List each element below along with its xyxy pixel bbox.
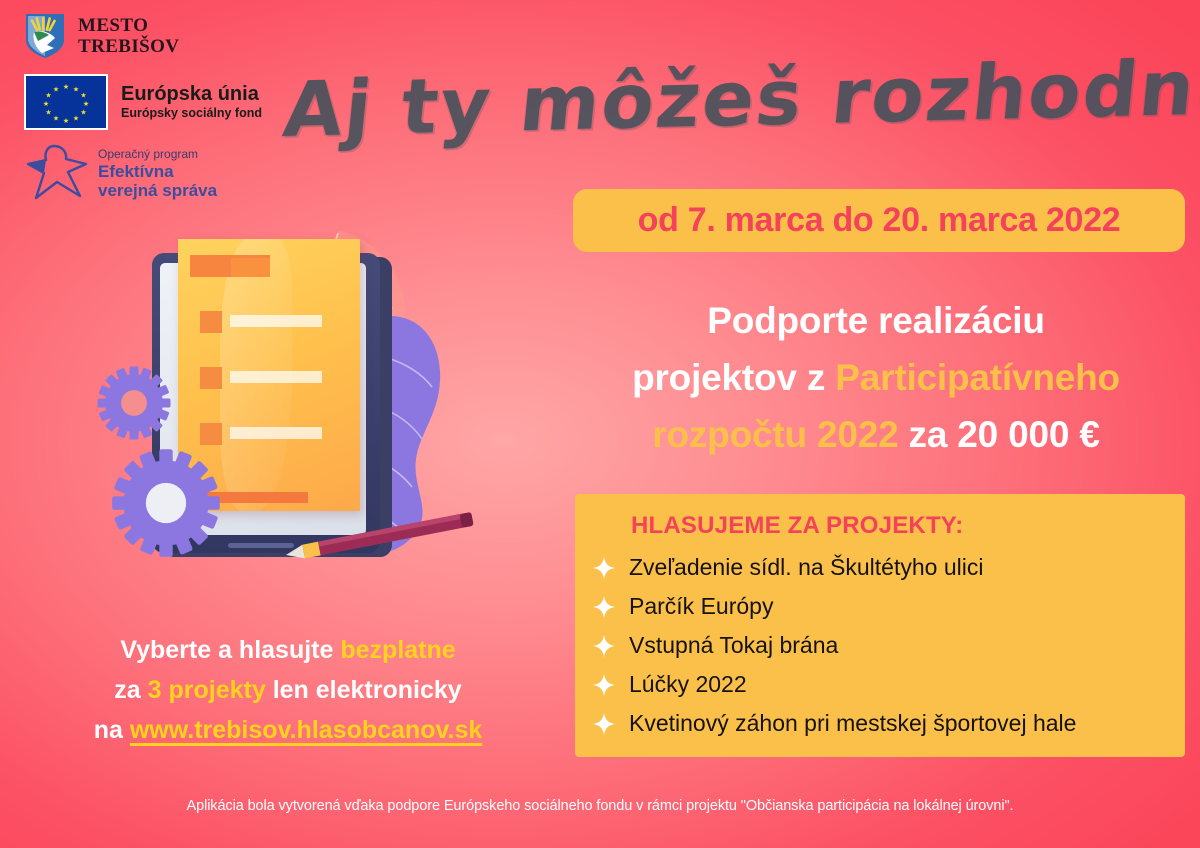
- main-heading-line1: Podporte realizáciu: [560, 292, 1192, 349]
- main-heading-line2: projektov z Participatívneho: [560, 349, 1192, 406]
- logo-eu-line2: Európsky sociálny fond: [121, 106, 262, 121]
- logo-op-line3: verejná správa: [98, 181, 217, 200]
- svg-text:★: ★: [53, 86, 59, 94]
- logo-op-line2: Efektívna: [98, 162, 217, 181]
- cta-count-highlight: 3 projekty: [148, 676, 266, 704]
- project-list-item[interactable]: Zveľadenie sídl. na Škultétyho ulici: [589, 548, 1171, 587]
- main-heading: Podporte realizáciu projektov z Particip…: [560, 292, 1192, 463]
- tablet-form-gears-illustration: [90, 225, 470, 595]
- project-list-item-label: Zveľadenie sídl. na Škultétyho ulici: [629, 554, 983, 581]
- main-heading-line3: rozpočtu 2022 za 20 000 €: [560, 406, 1192, 463]
- eu-flag-icon: ★ ★ ★ ★ ★ ★ ★ ★ ★ ★ ★ ★: [24, 74, 108, 130]
- logo-op-line1: Operačný program: [98, 147, 217, 162]
- cta-line2: za 3 projekty len elektronicky: [38, 670, 538, 710]
- cta-free-highlight: bezplatne: [340, 636, 455, 664]
- svg-text:★: ★: [53, 115, 59, 123]
- project-list-item-label: Kvetinový záhon pri mestskej športovej h…: [629, 710, 1076, 737]
- poster-canvas: MESTO TREBIŠOV ★ ★ ★ ★ ★ ★ ★ ★ ★: [0, 0, 1200, 848]
- sparkle-star-icon: [589, 557, 619, 579]
- form-line: [230, 315, 322, 327]
- projects-title: HLASUJEME ZA PROJEKTY:: [631, 512, 1171, 540]
- projects-box: HLASUJEME ZA PROJEKTY: Zveľadenie sídl. …: [575, 494, 1185, 757]
- svg-text:★: ★: [45, 109, 51, 117]
- project-list-item[interactable]: Kvetinový záhon pri mestskej športovej h…: [589, 704, 1171, 743]
- svg-text:★: ★: [80, 109, 86, 117]
- svg-text:★: ★: [63, 83, 69, 91]
- svg-text:★: ★: [63, 117, 69, 125]
- form-line: [230, 427, 322, 439]
- form-title-block-2: [231, 258, 270, 277]
- project-list-item[interactable]: Lúčky 2022: [589, 665, 1171, 704]
- main-heading-part4: rozpočtu 2022: [652, 414, 898, 455]
- form-checkbox: [200, 311, 222, 333]
- svg-text:★: ★: [83, 100, 89, 108]
- op-star-person-icon: [24, 142, 92, 204]
- sparkle-star-icon: [589, 713, 619, 735]
- logo-operacny-program: Operačný program Efektívna verejná správ…: [24, 142, 262, 204]
- date-banner-text: od 7. marca do 20. marca 2022: [638, 201, 1121, 240]
- cta-line2-suffix: len elektronicky: [266, 676, 462, 704]
- logo-european-union: ★ ★ ★ ★ ★ ★ ★ ★ ★ ★ ★ ★ Eu: [24, 74, 262, 130]
- sparkle-star-icon: [589, 635, 619, 657]
- logo-eu-line1: Európska únia: [121, 83, 262, 106]
- project-list-item[interactable]: Parčík Európy: [589, 587, 1171, 626]
- svg-text:★: ★: [73, 115, 79, 123]
- logo-mesto-line1: MESTO: [78, 15, 179, 36]
- form-line: [230, 371, 322, 383]
- form-checkbox: [200, 367, 222, 389]
- project-list-item-label: Vstupná Tokaj brána: [629, 632, 838, 659]
- sparkle-star-icon: [589, 674, 619, 696]
- main-heading-part5: za 20 000 €: [898, 414, 1099, 455]
- large-gear-icon: [110, 447, 222, 559]
- date-banner: od 7. marca do 20. marca 2022: [573, 189, 1185, 252]
- main-heading-part3: Participatívneho: [835, 357, 1120, 398]
- poster-headline: Aj ty môžeš rozhodnúť !: [278, 33, 1197, 171]
- form-checkbox: [200, 423, 222, 445]
- cta-line3-prefix: na: [94, 716, 130, 744]
- project-list-item-label: Parčík Európy: [629, 593, 773, 620]
- small-gear-icon: [96, 365, 172, 441]
- project-list-item-label: Lúčky 2022: [629, 671, 747, 698]
- voting-website-link[interactable]: www.trebisov.hlasobcanov.sk: [130, 716, 482, 744]
- call-to-action: Vyberte a hlasujte bezplatne za 3 projek…: [38, 630, 538, 750]
- cta-line1-text: Vyberte a hlasujte: [120, 636, 340, 664]
- logo-mesto-trebisov: MESTO TREBIŠOV: [24, 12, 262, 60]
- logo-mesto-line2: TREBIŠOV: [78, 36, 179, 57]
- main-heading-part2: projektov z: [632, 357, 835, 398]
- svg-text:★: ★: [73, 86, 79, 94]
- project-list-item[interactable]: Vstupná Tokaj brána: [589, 626, 1171, 665]
- cta-line1: Vyberte a hlasujte bezplatne: [38, 630, 538, 670]
- svg-text:★: ★: [80, 92, 86, 100]
- trebisov-coat-of-arms-icon: [24, 12, 66, 60]
- cta-line2-prefix: za: [114, 676, 147, 704]
- cta-line3: na www.trebisov.hlasobcanov.sk: [38, 710, 538, 750]
- svg-text:★: ★: [43, 100, 49, 108]
- logo-stack: MESTO TREBIŠOV ★ ★ ★ ★ ★ ★ ★ ★ ★: [24, 12, 262, 204]
- svg-text:★: ★: [45, 92, 51, 100]
- footer-note: Aplikácia bola vytvorená vďaka podpore E…: [0, 798, 1200, 814]
- sparkle-star-icon: [589, 596, 619, 618]
